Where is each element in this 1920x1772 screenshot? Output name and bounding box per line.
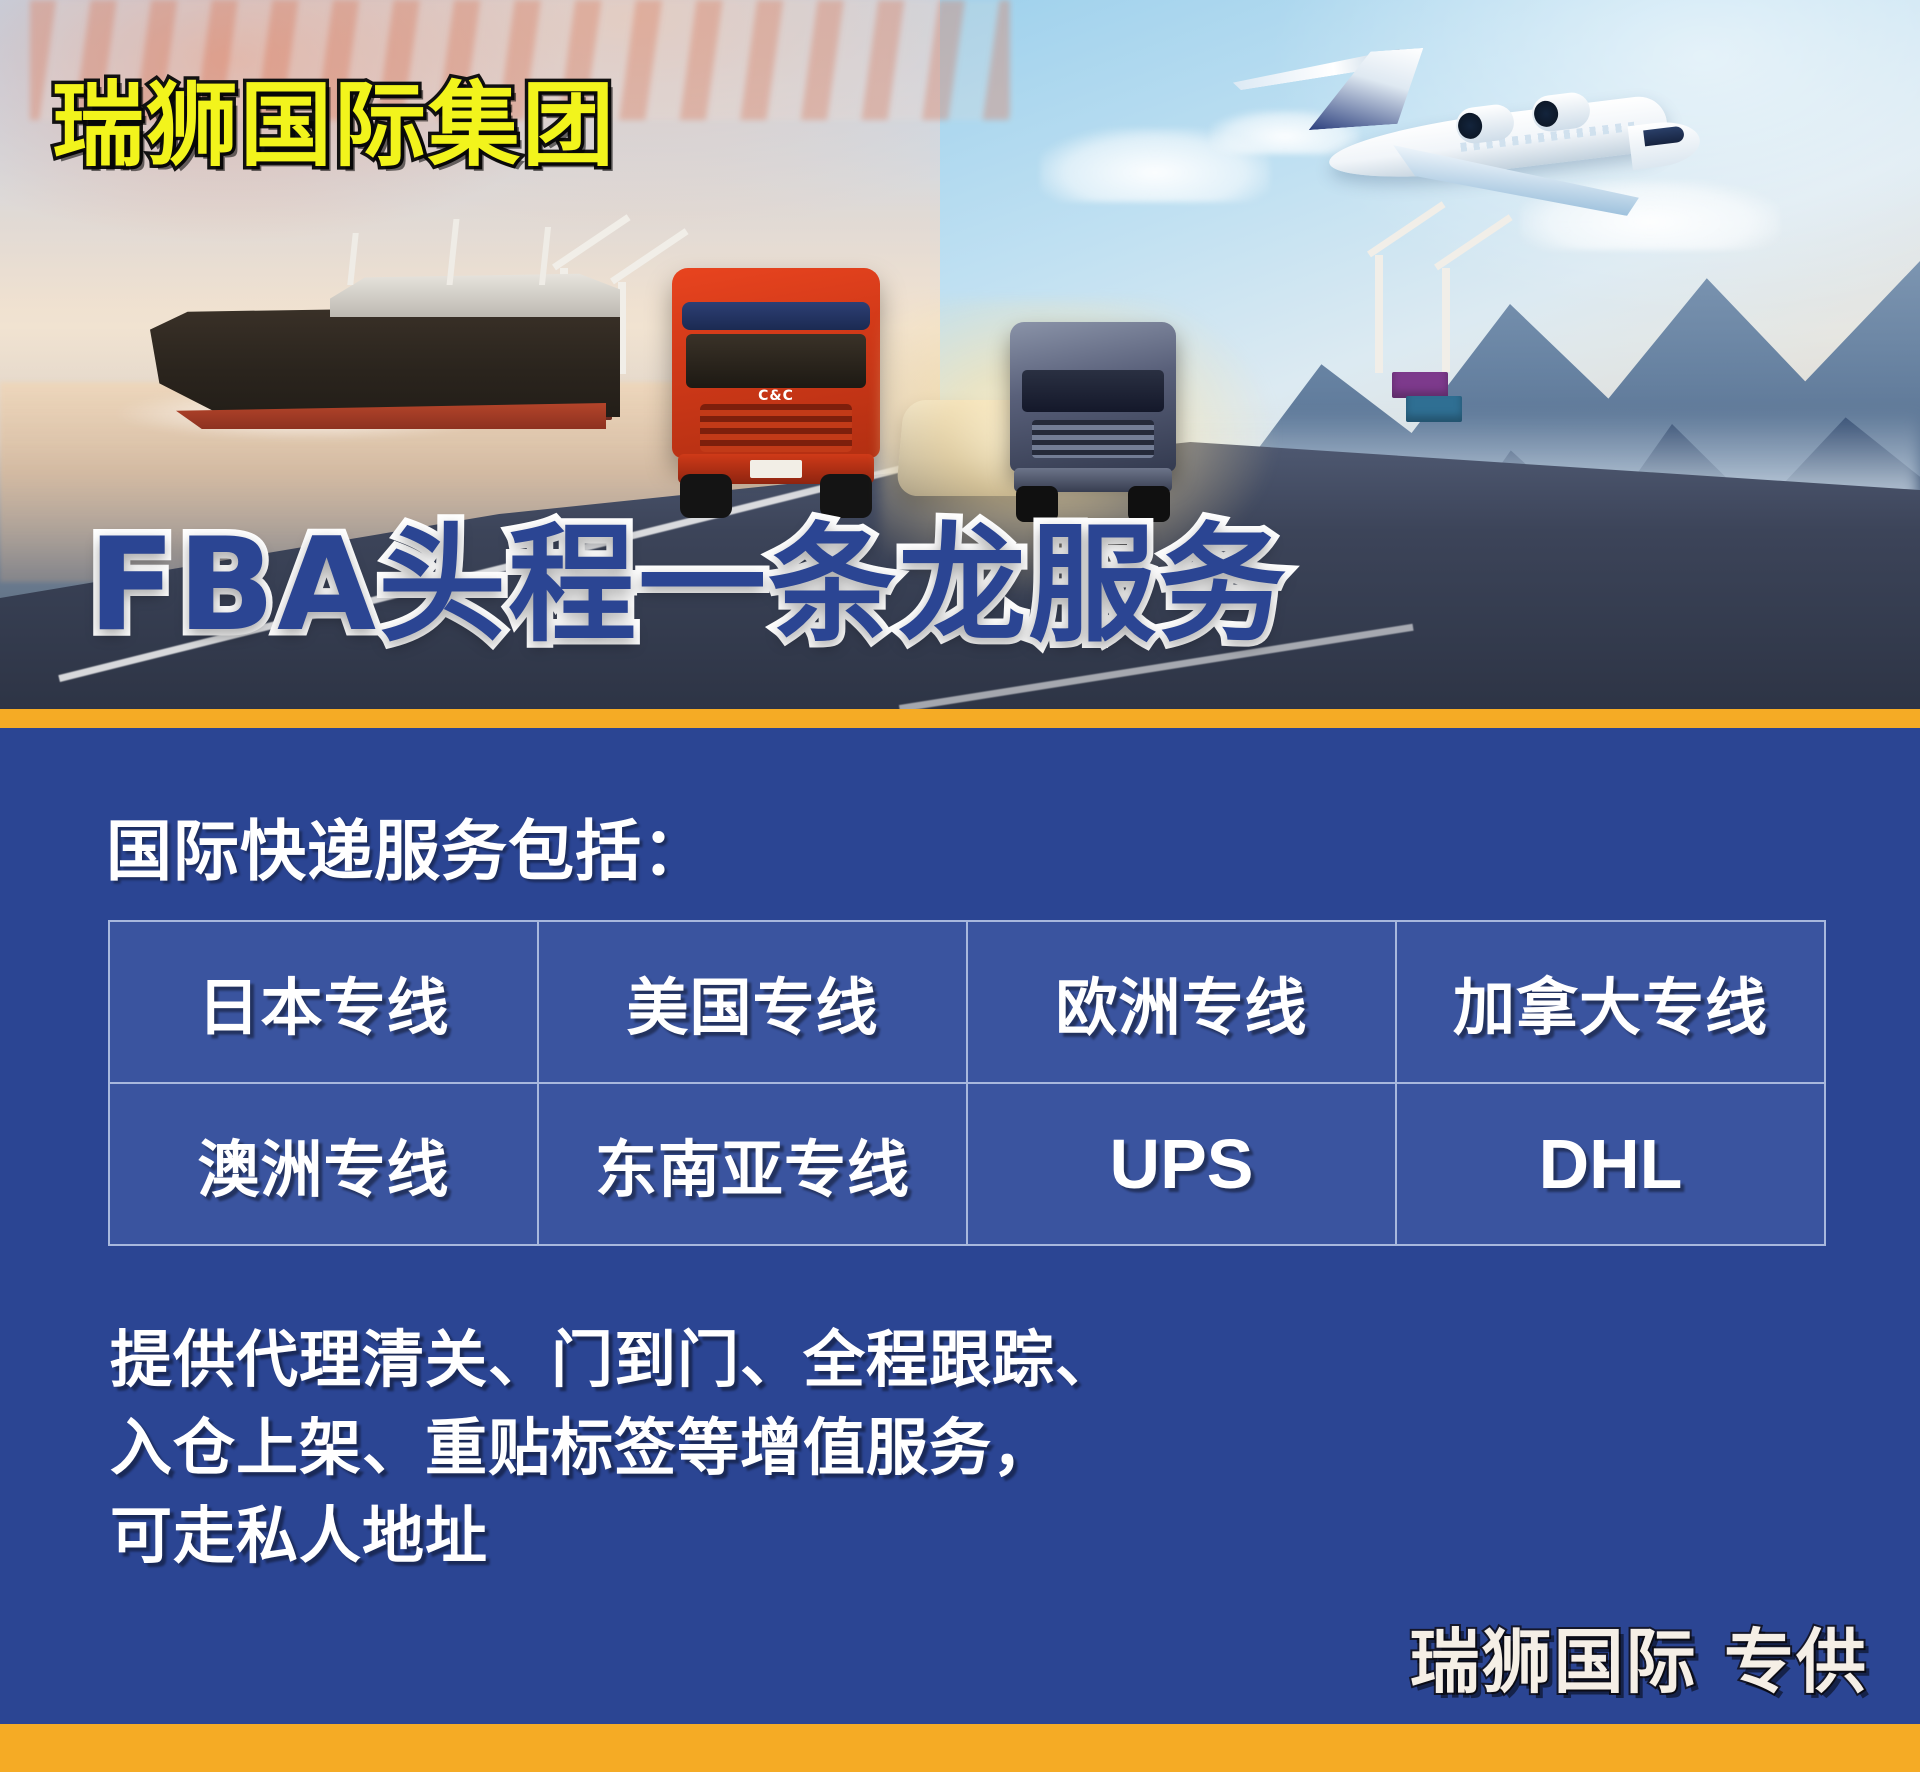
dark-semi-truck [1010, 322, 1176, 522]
shipping-container [1406, 396, 1462, 422]
service-cell-japan[interactable]: 日本专线 [109, 921, 538, 1083]
ship-superstructure [330, 271, 620, 317]
promo-banner: C&C 瑞狮国 [0, 0, 1920, 1772]
service-cell-usa[interactable]: 美国专线 [538, 921, 967, 1083]
truck-windshield [1022, 370, 1164, 412]
hero-photo-collage: C&C 瑞狮国 [0, 0, 1920, 712]
service-cell-canada[interactable]: 加拿大专线 [1396, 921, 1825, 1083]
port-crane-icon [1375, 255, 1383, 373]
feature-line-3: 可走私人地址 [110, 1492, 1118, 1580]
plane-engine-intake [1457, 111, 1484, 140]
truck-brand-badge: C&C [752, 388, 800, 404]
shipping-container [1392, 372, 1448, 398]
port-crane-icon [1442, 268, 1450, 372]
service-cell-australia[interactable]: 澳洲专线 [109, 1083, 538, 1245]
cargo-ship [150, 245, 620, 435]
hero-headline: FBA头程一条龙服务 [88, 522, 1288, 650]
ship-hull [150, 305, 620, 417]
orange-divider-bottom [0, 1724, 1920, 1772]
orange-divider-top [0, 709, 1920, 728]
airplane-icon [1270, 40, 1700, 230]
truck-license-plate [750, 460, 802, 478]
feature-line-1: 提供代理清关、门到门、全程跟踪、 [110, 1316, 1118, 1404]
company-logo-text: 瑞狮国际集团 [52, 80, 616, 172]
plane-tail-fin [1304, 48, 1429, 130]
plane-nose [1628, 118, 1703, 170]
service-cell-dhl[interactable]: DHL [1396, 1083, 1825, 1245]
service-cell-ups[interactable]: UPS [967, 1083, 1396, 1245]
table-row: 澳洲专线 东南亚专线 UPS DHL [109, 1083, 1825, 1245]
table-row: 日本专线 美国专线 欧洲专线 加拿大专线 [109, 921, 1825, 1083]
footer-brand-text: 瑞狮国际 专供 [1410, 1606, 1868, 1707]
red-semi-truck: C&C [672, 268, 880, 518]
service-cell-southeast-asia[interactable]: 东南亚专线 [538, 1083, 967, 1245]
panel-heading: 国际快递服务包括： [106, 798, 709, 894]
value-added-services-text: 提供代理清关、门到门、全程跟踪、 入仓上架、重贴标签等增值服务， 可走私人地址 [110, 1316, 1118, 1580]
truck-grille [700, 404, 852, 452]
truck-windshield [686, 334, 866, 388]
feature-line-2: 入仓上架、重贴标签等增值服务， [110, 1404, 1118, 1492]
truck-grille [1032, 420, 1154, 458]
plane-engine-intake [1533, 99, 1560, 128]
truck-sun-visor [682, 302, 870, 330]
service-cell-europe[interactable]: 欧洲专线 [967, 921, 1396, 1083]
services-panel: 国际快递服务包括： 日本专线 美国专线 欧洲专线 加拿大专线 澳洲专线 东南亚专… [0, 728, 1920, 1724]
services-table: 日本专线 美国专线 欧洲专线 加拿大专线 澳洲专线 东南亚专线 UPS DHL [108, 920, 1826, 1246]
